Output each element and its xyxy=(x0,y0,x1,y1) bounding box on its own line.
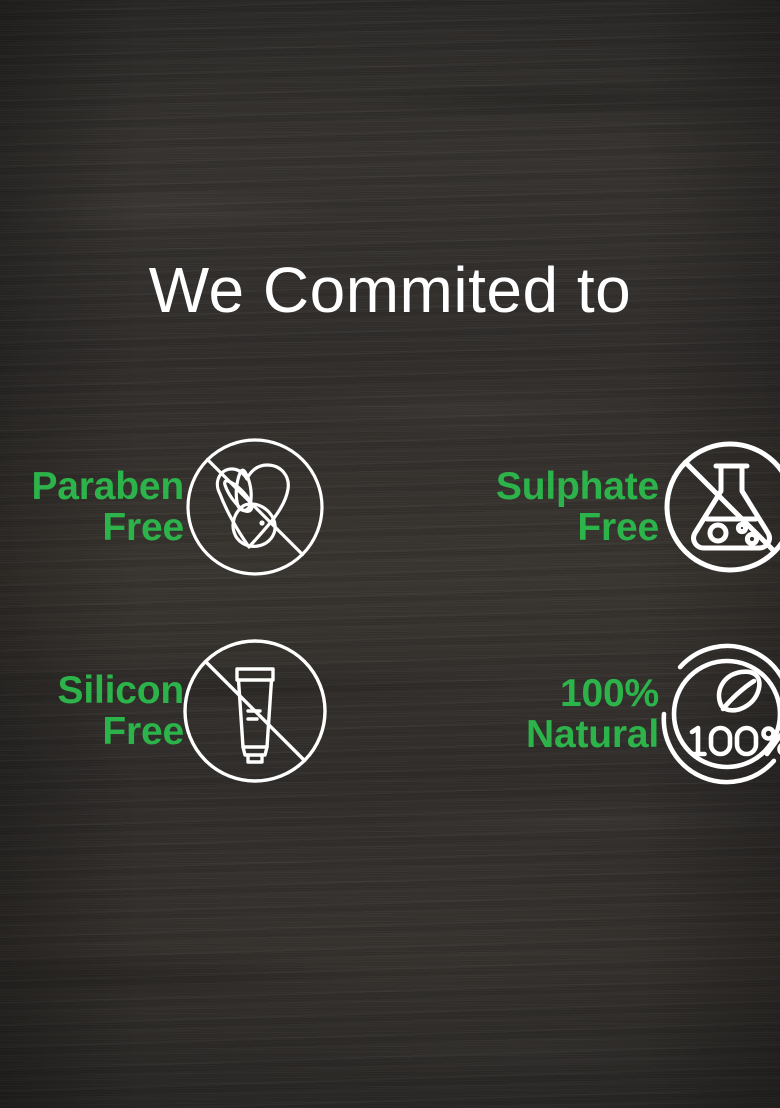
badge-label-line1: 100% xyxy=(560,672,659,715)
badge-label-sulphate-free: Sulphate Free xyxy=(413,466,659,549)
badge-silicon-free: Silicon Free xyxy=(0,636,330,786)
badge-label-line1: Silicon xyxy=(58,669,184,712)
promo-banner: We Commited to Paraben Free xyxy=(0,0,780,1108)
badge-label-paraben-free: Paraben Free xyxy=(0,466,184,549)
badge-label-line1: Sulphate xyxy=(496,465,659,508)
no-chemical-flask-icon xyxy=(655,432,780,582)
no-animal-testing-rabbit-heart-icon xyxy=(180,432,330,582)
badge-paraben-free: Paraben Free xyxy=(0,432,330,582)
badge-100-natural: 100% Natural xyxy=(413,636,780,792)
badge-label-line2: Natural xyxy=(413,714,659,755)
badge-label-line2: Free xyxy=(0,507,184,548)
leaf-100-percent-icon xyxy=(649,636,780,792)
badge-label-line1: Paraben xyxy=(31,465,184,508)
badge-label-line2: Free xyxy=(0,711,184,752)
badge-sulphate-free: Sulphate Free xyxy=(413,432,780,582)
no-cosmetic-tube-icon xyxy=(180,636,330,786)
badge-label-100-natural: 100% Natural xyxy=(413,673,659,756)
page-title: We Commited to xyxy=(0,258,780,322)
badge-label-line2: Free xyxy=(413,507,659,548)
badge-label-silicon-free: Silicon Free xyxy=(0,670,184,753)
